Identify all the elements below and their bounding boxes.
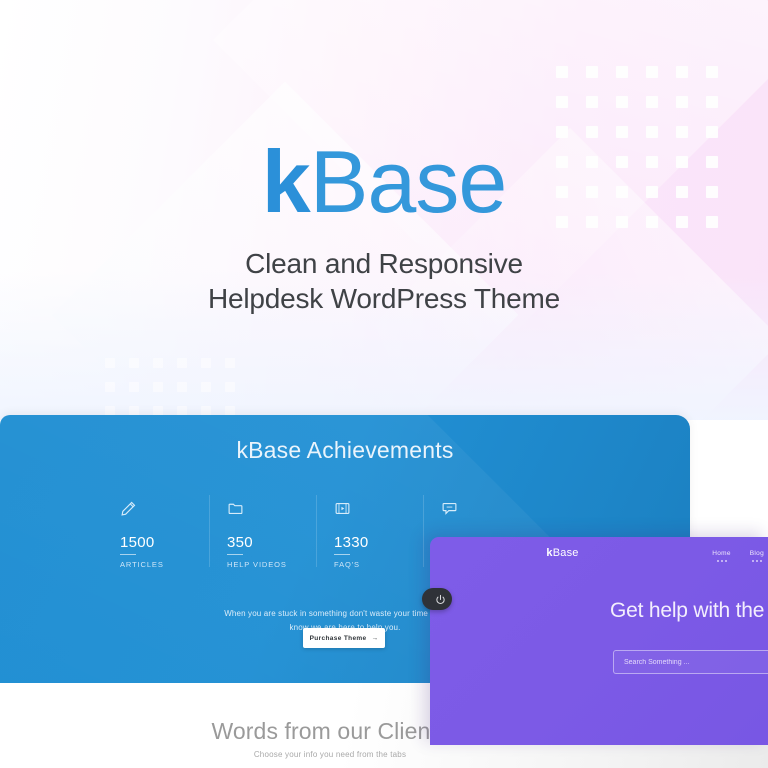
folder-icon bbox=[227, 500, 334, 524]
search-input[interactable] bbox=[613, 650, 768, 674]
stat-rule bbox=[120, 554, 136, 555]
stat-value: 350 bbox=[227, 534, 334, 551]
power-badge[interactable] bbox=[422, 588, 452, 610]
purchase-theme-label: Purchase Theme bbox=[310, 635, 367, 642]
preview-headline: Get help with the Adva bbox=[610, 599, 768, 623]
stat-faqs: 1330 FAQ'S bbox=[334, 500, 441, 569]
stat-help-videos: 350 HELP VIDEOS bbox=[227, 500, 334, 569]
video-icon bbox=[334, 500, 441, 524]
logo-k: k bbox=[262, 132, 310, 231]
nav-item-home-label: Home bbox=[712, 550, 731, 557]
stat-label: HELP VIDEOS bbox=[227, 560, 334, 569]
nav-subdots-icon bbox=[712, 560, 731, 562]
stat-rule bbox=[227, 554, 243, 555]
preview-logo-base: Base bbox=[553, 547, 579, 559]
chat-icon bbox=[441, 500, 548, 524]
nav-item-blog[interactable]: Blog bbox=[750, 550, 764, 562]
stat-value: 1500 bbox=[120, 534, 227, 551]
preview-headline-plain: Get help with the bbox=[610, 599, 768, 622]
stat-rule bbox=[334, 554, 350, 555]
stat-label: ARTICLES bbox=[120, 560, 227, 569]
logo-base: Base bbox=[310, 132, 507, 231]
preview-panel: kBase Home Blog Get help with the Adva -… bbox=[430, 537, 768, 745]
achievements-title: kBase Achievements bbox=[0, 437, 690, 464]
tagline: Clean and Responsive Helpdesk WordPress … bbox=[0, 246, 768, 317]
power-icon bbox=[435, 594, 446, 605]
nav-item-home[interactable]: Home bbox=[712, 550, 731, 562]
stat-label: FAQ'S bbox=[334, 560, 441, 569]
kbase-logo: kBase bbox=[0, 140, 768, 224]
nav-item-blog-label: Blog bbox=[750, 550, 764, 557]
preview-nav: Home Blog bbox=[712, 550, 768, 562]
testimonials-subtitle: Choose your info you need from the tabs bbox=[0, 750, 660, 759]
brand-block: kBase Clean and Responsive Helpdesk Word… bbox=[0, 140, 768, 316]
stat-articles: 1500 ARTICLES bbox=[120, 500, 227, 569]
pencil-icon bbox=[120, 500, 227, 524]
stat-value: 1330 bbox=[334, 534, 441, 551]
nav-subdots-icon bbox=[750, 560, 764, 562]
arrow-right-icon: → bbox=[372, 635, 379, 642]
tagline-line-1: Clean and Responsive bbox=[0, 246, 768, 281]
preview-logo: kBase bbox=[430, 547, 695, 559]
tagline-line-2: Helpdesk WordPress Theme bbox=[0, 281, 768, 316]
purchase-theme-button[interactable]: Purchase Theme → bbox=[303, 628, 385, 648]
dot-grid-bottom-left bbox=[105, 358, 235, 416]
